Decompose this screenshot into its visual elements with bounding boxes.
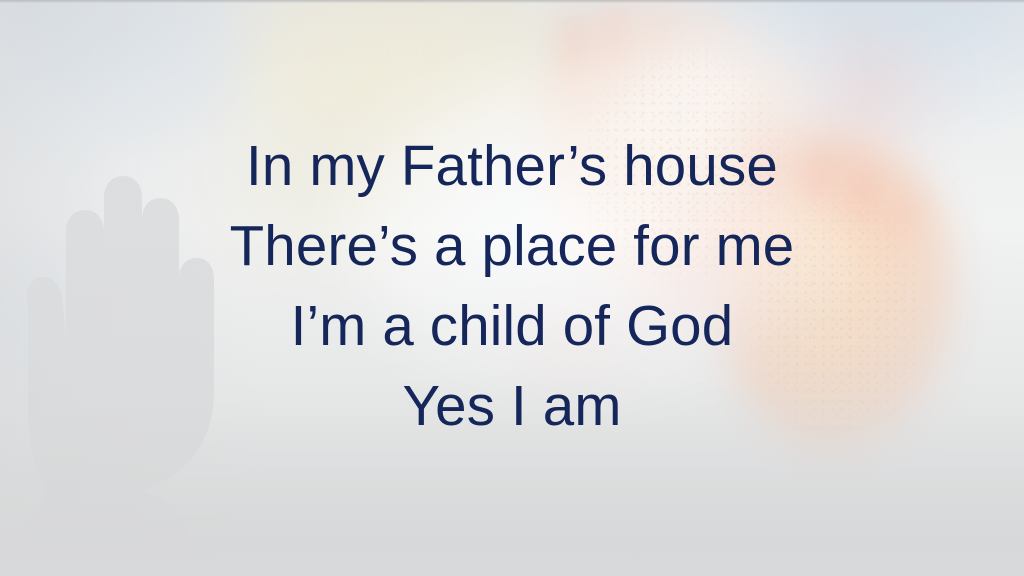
lyric-text-block: In my Father’s house There’s a place for… — [0, 126, 1024, 446]
lyric-line-1: In my Father’s house — [45, 126, 980, 206]
lyric-line-3: I’m a child of God — [45, 286, 980, 366]
lyric-line-2: There’s a place for me — [45, 206, 980, 286]
lyric-slide: In my Father’s house There’s a place for… — [0, 0, 1024, 576]
lyric-line-4: Yes I am — [45, 366, 980, 446]
top-edge-line — [0, 0, 1024, 3]
